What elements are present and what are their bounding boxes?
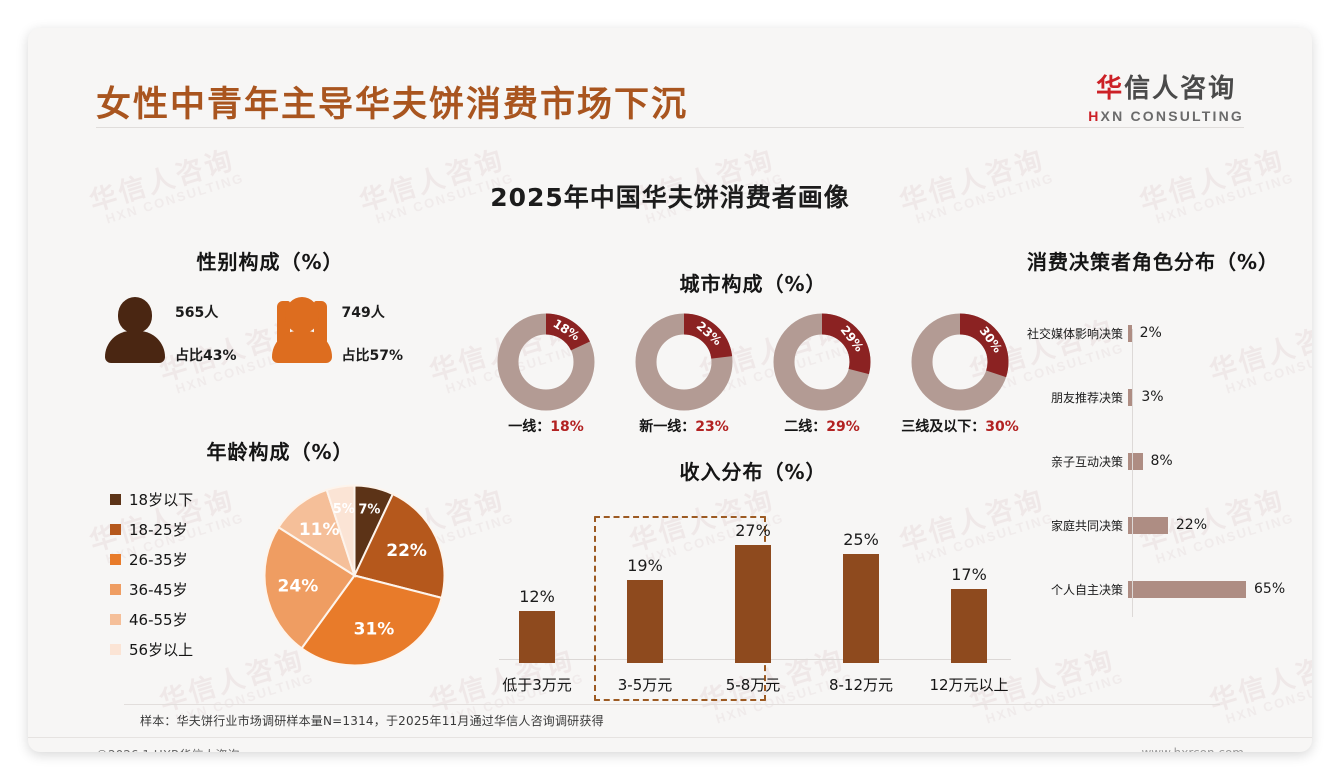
city-donut-item: 23%新一线：23% (620, 313, 748, 436)
decision-bar (1128, 517, 1168, 534)
brand-logo: 华信人咨询 HXN CONSULTING (1088, 68, 1244, 124)
gender-text: 565人占比43% (175, 297, 237, 365)
age-panel: 年龄构成（%） 18岁以下18-25岁26-35岁36-45岁46-55岁56岁… (100, 436, 460, 671)
income-bar (735, 545, 771, 663)
age-chart: 18岁以下18-25岁26-35岁36-45岁46-55岁56岁以上 7%22%… (100, 481, 460, 671)
decision-title: 消费决策者角色分布（%） (1003, 246, 1303, 275)
city-donut-item: 18%一线：18% (482, 313, 610, 436)
website-link[interactable]: www.hxrcon.com (1141, 746, 1244, 752)
income-bar-value: 25% (843, 530, 879, 549)
income-bar-group: 25%8-12万元 (807, 499, 915, 695)
decision-bar-value: 8% (1151, 453, 1173, 469)
legend-label: 46-55岁 (129, 609, 188, 630)
decision-bar-label: 个人自主决策 (1003, 581, 1128, 598)
donut-caption: 一线：18% (482, 416, 610, 436)
gender-count: 749人 (342, 302, 404, 322)
decision-bar-row: 朋友推荐决策3% (1003, 365, 1303, 429)
gender-title: 性别构成（%） (100, 246, 440, 275)
decision-bar-value: 65% (1254, 581, 1285, 597)
age-legend-item: 46-55岁 (110, 609, 193, 630)
city-donut-row: 18%一线：18%23%新一线：23%29%二线：29%30%三线及以下：30% (468, 313, 1038, 436)
income-panel: 收入分布（%） 12%低于3万元19%3-5万元27%5-8万元25%8-12万… (483, 456, 1023, 695)
logo-hua-glyph: 华 (1096, 74, 1124, 104)
donut-caption: 二线：29% (758, 416, 886, 436)
city-title: 城市构成（%） (468, 268, 1038, 297)
decision-axis-line (1132, 329, 1133, 617)
income-bar-group: 27%5-8万元 (699, 499, 807, 695)
age-title: 年龄构成（%） (100, 436, 460, 465)
donut-chart: 18% (497, 313, 595, 411)
logo-chinese: 华信人咨询 (1088, 68, 1244, 105)
decision-bar-label: 家庭共同决策 (1003, 517, 1128, 534)
income-bars: 12%低于3万元19%3-5万元27%5-8万元25%8-12万元17%12万元… (483, 499, 1023, 695)
legend-label: 18-25岁 (129, 519, 188, 540)
income-bar (519, 611, 555, 663)
decision-bar-row: 社交媒体影响决策2% (1003, 301, 1303, 365)
legend-swatch (110, 584, 121, 595)
pie-slice-label: 31% (354, 620, 395, 640)
income-bar (843, 554, 879, 663)
donut-chart: 29% (773, 313, 871, 411)
decision-bar-row: 个人自主决策65% (1003, 557, 1303, 621)
logo-english: HXN CONSULTING (1088, 108, 1244, 124)
decision-bar-label: 朋友推荐决策 (1003, 389, 1128, 406)
gender-row: 565人占比43%749人占比57% (100, 297, 440, 365)
income-title: 收入分布（%） (483, 456, 1023, 485)
income-bar-value: 12% (519, 587, 555, 606)
income-bar-category: 8-12万元 (829, 674, 893, 695)
decision-bar-label: 亲子互动决策 (1003, 453, 1128, 470)
income-bar-category: 12万元以上 (929, 674, 1008, 695)
donut-caption: 新一线：23% (620, 416, 748, 436)
legend-swatch (110, 644, 121, 655)
gender-share: 占比57% (342, 345, 404, 365)
legend-swatch (110, 494, 121, 505)
city-donut-item: 29%二线：29% (758, 313, 886, 436)
gender-panel: 性别构成（%） 565人占比43%749人占比57% (100, 246, 440, 365)
age-legend-item: 56岁以上 (110, 639, 193, 660)
legend-label: 18岁以下 (129, 489, 193, 510)
income-bar-value: 27% (735, 521, 771, 540)
logo-en-rest: XN CONSULTING (1101, 108, 1244, 124)
copyright-text: ©2026.1 HXR华信人咨询 (96, 746, 239, 752)
sample-note: 样本：华夫饼行业市场调研样本量N=1314，于2025年11月通过华信人咨询调研… (140, 712, 604, 729)
decision-bar-value: 2% (1140, 325, 1162, 341)
donut-caption-value: 18% (550, 419, 584, 435)
pie-slice-label: 24% (278, 576, 319, 596)
gender-share: 占比43% (175, 345, 237, 365)
logo-cn-rest: 信人咨询 (1124, 74, 1236, 104)
page-title: 女性中青年主导华夫饼消费市场下沉 (96, 76, 688, 127)
city-panel: 城市构成（%） 18%一线：18%23%新一线：23%29%二线：29%30%三… (468, 268, 1038, 436)
decision-rows: 社交媒体影响决策2%朋友推荐决策3%亲子互动决策8%家庭共同决策22%个人自主决… (1003, 301, 1303, 621)
pie-slice-label: 22% (386, 541, 427, 561)
age-pie-chart: 7%22%31%24%11%5% (262, 483, 447, 668)
age-legend: 18岁以下18-25岁26-35岁36-45岁46-55岁56岁以上 (110, 489, 193, 669)
decision-chart: 社交媒体影响决策2%朋友推荐决策3%亲子互动决策8%家庭共同决策22%个人自主决… (1003, 301, 1303, 621)
female-avatar-icon (271, 297, 333, 363)
income-bar-category: 5-8万元 (726, 674, 781, 695)
decision-bar-row: 亲子互动决策8% (1003, 429, 1303, 493)
donut-chart: 30% (911, 313, 1009, 411)
age-legend-item: 36-45岁 (110, 579, 193, 600)
decision-bar (1128, 453, 1143, 470)
income-bar (951, 589, 987, 663)
decision-bar (1128, 581, 1246, 598)
decision-bar-row: 家庭共同决策22% (1003, 493, 1303, 557)
age-legend-item: 18岁以下 (110, 489, 193, 510)
gender-item: 565人占比43% (104, 297, 237, 365)
income-bar-value: 17% (951, 565, 987, 584)
male-avatar-icon (104, 297, 166, 363)
gender-text: 749人占比57% (342, 297, 404, 365)
income-chart: 12%低于3万元19%3-5万元27%5-8万元25%8-12万元17%12万元… (483, 499, 1023, 695)
legend-swatch (110, 614, 121, 625)
income-bar-group: 19%3-5万元 (591, 499, 699, 695)
legend-swatch (110, 554, 121, 565)
legend-swatch (110, 524, 121, 535)
age-legend-item: 18-25岁 (110, 519, 193, 540)
pie-slice-label: 5% (333, 502, 355, 517)
logo-h-glyph: H (1088, 108, 1100, 124)
decision-bar-value: 22% (1176, 517, 1207, 533)
gender-count: 565人 (175, 302, 237, 322)
legend-label: 56岁以上 (129, 639, 193, 660)
donut-chart: 23% (635, 313, 733, 411)
legend-label: 36-45岁 (129, 579, 188, 600)
donut-caption-value: 29% (826, 419, 860, 435)
gender-item: 749人占比57% (271, 297, 404, 365)
income-bar-category: 3-5万元 (618, 674, 673, 695)
decision-bar-label: 社交媒体影响决策 (1003, 325, 1128, 342)
decision-panel: 消费决策者角色分布（%） 社交媒体影响决策2%朋友推荐决策3%亲子互动决策8%家… (1003, 246, 1303, 621)
pie-slice-label: 7% (358, 503, 380, 518)
income-bar-group: 12%低于3万元 (483, 499, 591, 695)
legend-label: 26-35岁 (129, 549, 188, 570)
income-bar-category: 低于3万元 (502, 674, 572, 695)
footer-divider (28, 737, 1312, 738)
age-legend-item: 26-35岁 (110, 549, 193, 570)
decision-bar-value: 3% (1141, 389, 1163, 405)
chart-subtitle: 2025年中国华夫饼消费者画像 (28, 178, 1312, 214)
pie-slice-label: 11% (299, 520, 340, 540)
income-bar (627, 580, 663, 663)
infographic-card: 华信人咨询HXN CONSULTING华信人咨询HXN CONSULTING华信… (28, 28, 1312, 752)
income-bar-value: 19% (627, 556, 663, 575)
donut-caption-value: 23% (695, 419, 729, 435)
header-divider (96, 127, 1244, 128)
card-content: 女性中青年主导华夫饼消费市场下沉 华信人咨询 HXN CONSULTING 20… (28, 28, 1312, 752)
note-divider (124, 704, 1220, 705)
